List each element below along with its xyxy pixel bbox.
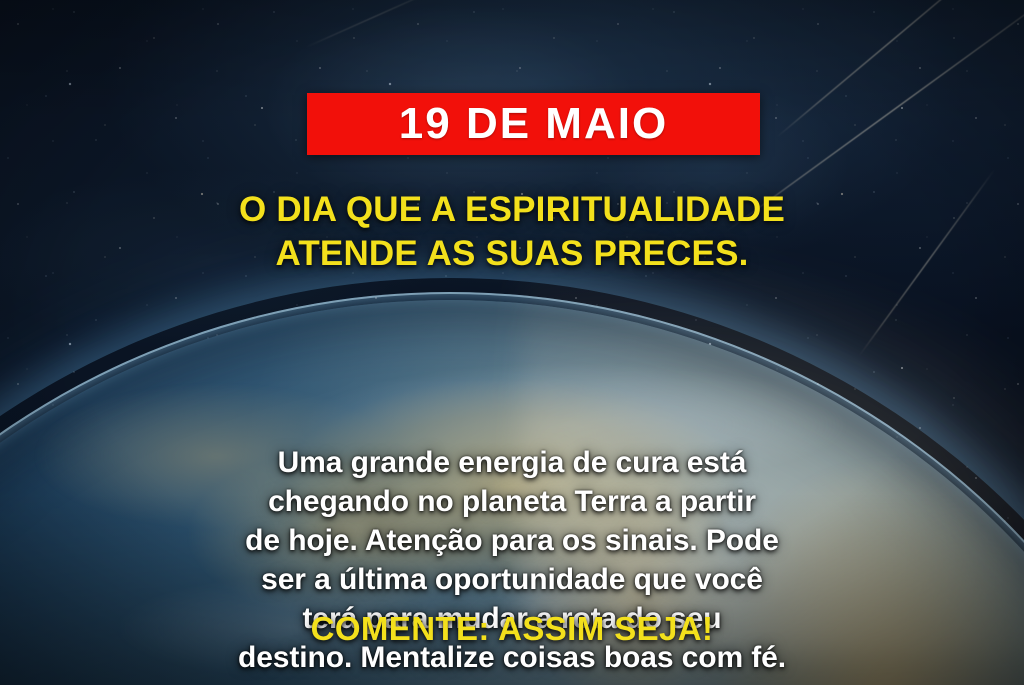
poster-image: 19 DE MAIO O DIA QUE A ESPIRITUALIDADE A… [0,0,1024,685]
headline-line-2: ATENDE AS SUAS PRECES. [0,232,1024,275]
headline: O DIA QUE A ESPIRITUALIDADE ATENDE AS SU… [0,188,1024,275]
date-banner: 19 DE MAIO [307,93,760,155]
call-to-action-text: COMENTE: ASSIM SEJA! [0,612,1024,645]
body-copy-line-4: ser a última oportunidade que você [0,560,1024,599]
headline-line-1: O DIA QUE A ESPIRITUALIDADE [0,188,1024,231]
body-copy-line-2: chegando no planeta Terra a partir [0,482,1024,521]
date-banner-label: 19 DE MAIO [399,102,668,146]
body-copy-line-1: Uma grande energia de cura está [0,443,1024,482]
body-copy-line-3: de hoje. Atenção para os sinais. Pode [0,521,1024,560]
poster-content: 19 DE MAIO O DIA QUE A ESPIRITUALIDADE A… [0,0,1024,685]
